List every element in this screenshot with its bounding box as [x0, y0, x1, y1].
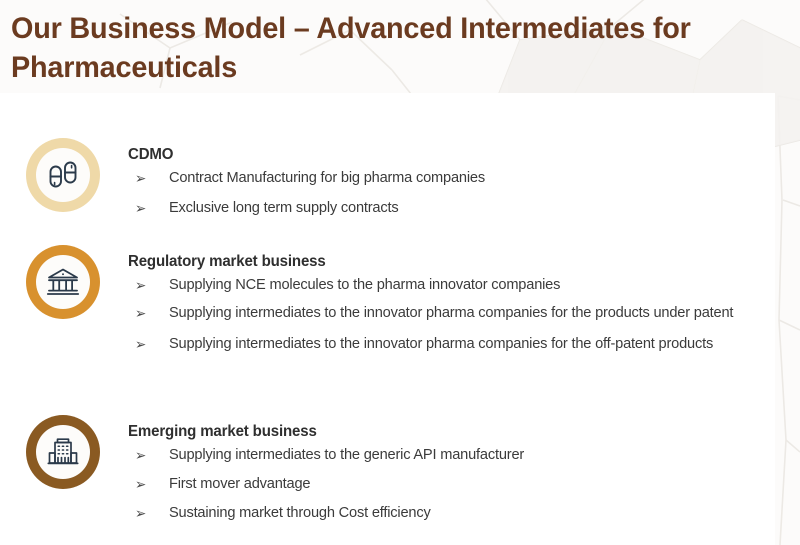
bullet-text: Supplying NCE molecules to the pharma in… — [169, 276, 560, 293]
slide-canvas: Our Business Model – Advanced Intermedia… — [0, 0, 800, 545]
bullet-list: ➢ Contract Manufacturing for big pharma … — [128, 167, 768, 219]
bullet-text: Supplying intermediates to the innovator… — [169, 335, 713, 352]
bullet-text: Supplying intermediates to the innovator… — [169, 304, 733, 321]
bullet-arrow-icon: ➢ — [135, 274, 146, 296]
slide-header: Our Business Model – Advanced Intermedia… — [0, 0, 800, 93]
bullet-arrow-icon: ➢ — [135, 197, 146, 219]
list-item: ➢ Supplying intermediates to the innovat… — [128, 302, 752, 324]
office-building-icon-badge — [26, 415, 100, 489]
section-body: Emerging market business ➢ Supplying int… — [128, 421, 768, 531]
list-item: ➢ Supplying NCE molecules to the pharma … — [128, 274, 752, 296]
section-heading: CDMO — [128, 144, 749, 165]
list-item: ➢ Contract Manufacturing for big pharma … — [128, 167, 752, 189]
bullet-text: Contract Manufacturing for big pharma co… — [169, 169, 485, 186]
bullet-text: Supplying intermediates to the generic A… — [169, 446, 524, 463]
bank-building-icon — [46, 265, 80, 299]
icon-inner-disc — [36, 148, 90, 202]
bullet-text: First mover advantage — [169, 475, 310, 492]
bullet-text: Exclusive long term supply contracts — [169, 199, 399, 216]
list-item: ➢ Supplying intermediates to the generic… — [128, 444, 752, 466]
bullet-arrow-icon: ➢ — [135, 167, 146, 189]
pills-icon-badge — [26, 138, 100, 212]
section-body: CDMO ➢ Contract Manufacturing for big ph… — [128, 144, 768, 227]
page-title: Our Business Model – Advanced Intermedia… — [11, 9, 760, 87]
bullet-list: ➢ Supplying intermediates to the generic… — [128, 444, 768, 524]
icon-inner-disc — [36, 255, 90, 309]
section-heading: Regulatory market business — [128, 251, 749, 272]
section-heading: Emerging market business — [128, 421, 749, 442]
content-panel: CDMO ➢ Contract Manufacturing for big ph… — [7, 93, 775, 545]
section-body: Regulatory market business ➢ Supplying N… — [128, 251, 768, 364]
bullet-arrow-icon: ➢ — [135, 502, 146, 524]
pills-icon — [46, 158, 80, 192]
bullet-text: Sustaining market through Cost efficienc… — [169, 504, 431, 521]
bullet-arrow-icon: ➢ — [135, 333, 146, 355]
bullet-arrow-icon: ➢ — [135, 444, 146, 466]
list-item: ➢ First mover advantage — [128, 473, 752, 495]
list-item: ➢ Sustaining market through Cost efficie… — [128, 502, 752, 524]
icon-inner-disc — [36, 425, 90, 479]
bullet-arrow-icon: ➢ — [135, 473, 146, 495]
bullet-list: ➢ Supplying NCE molecules to the pharma … — [128, 274, 768, 355]
bank-building-icon-badge — [26, 245, 100, 319]
office-building-icon — [46, 435, 80, 469]
list-item: ➢ Supplying intermediates to the innovat… — [128, 333, 752, 355]
bullet-arrow-icon: ➢ — [135, 302, 146, 324]
list-item: ➢ Exclusive long term supply contracts — [128, 197, 752, 219]
